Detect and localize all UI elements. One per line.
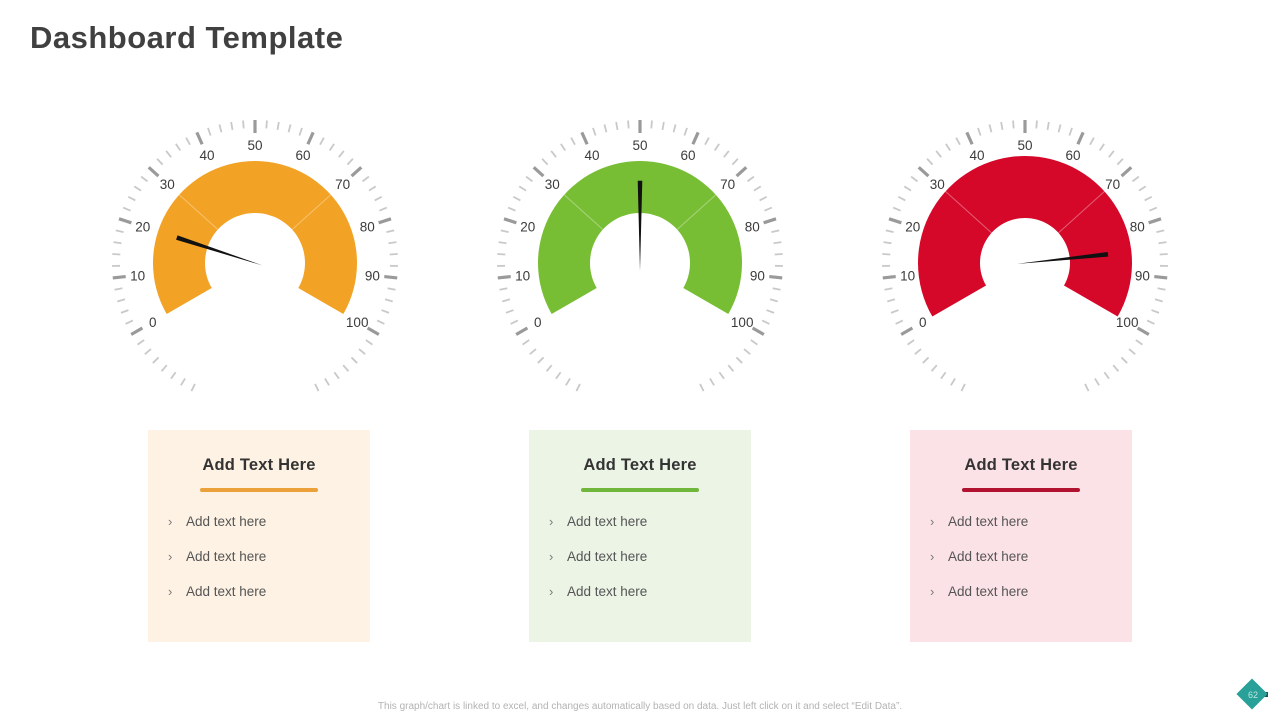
gauge-tick-label: 0 bbox=[149, 315, 157, 330]
gauge-green[interactable]: 0102030405060708090100 bbox=[490, 108, 790, 398]
gauge-tick-label: 40 bbox=[199, 148, 214, 163]
info-card[interactable]: Add Text Here›Add text here›Add text her… bbox=[529, 430, 751, 642]
chevron-right-icon: › bbox=[549, 514, 567, 529]
gauge-tick-label: 70 bbox=[1105, 177, 1120, 192]
gauge-tick-label: 20 bbox=[520, 220, 535, 235]
card-bullet-list: ›Add text here›Add text here›Add text he… bbox=[930, 514, 1112, 599]
list-item-label: Add text here bbox=[186, 549, 266, 564]
card-accent-underline bbox=[581, 488, 699, 492]
chevron-right-icon: › bbox=[549, 584, 567, 599]
gauge-tick-label: 50 bbox=[1017, 138, 1032, 153]
badge-number: 62 bbox=[1238, 680, 1268, 710]
gauge-tick-label: 60 bbox=[295, 148, 310, 163]
gauge-tick-label: 20 bbox=[905, 220, 920, 235]
list-item-label: Add text here bbox=[186, 514, 266, 529]
gauge-tick-label: 100 bbox=[1116, 315, 1139, 330]
gauge-orange[interactable]: 0102030405060708090100 bbox=[105, 108, 405, 398]
gauge-tick-label: 70 bbox=[335, 177, 350, 192]
gauge-tick-label: 60 bbox=[1065, 148, 1080, 163]
card-title: Add Text Here bbox=[549, 456, 731, 475]
list-item[interactable]: ›Add text here bbox=[168, 514, 350, 529]
gauge-tick-label: 10 bbox=[515, 268, 530, 283]
chevron-right-icon: › bbox=[168, 549, 186, 564]
chevron-right-icon: › bbox=[930, 514, 948, 529]
gauge-tick-label: 70 bbox=[720, 177, 735, 192]
chevron-right-icon: › bbox=[930, 549, 948, 564]
gauge-tick-label: 80 bbox=[1130, 220, 1145, 235]
list-item-label: Add text here bbox=[186, 584, 266, 599]
gauge-tick-label: 0 bbox=[919, 315, 927, 330]
chevron-right-icon: › bbox=[930, 584, 948, 599]
gauges-row: 0102030405060708090100010203040506070809… bbox=[0, 108, 1280, 398]
list-item[interactable]: ›Add text here bbox=[168, 549, 350, 564]
gauge-tick-label: 90 bbox=[1135, 268, 1150, 283]
gauge-tick-label: 90 bbox=[365, 268, 380, 283]
info-card[interactable]: Add Text Here›Add text here›Add text her… bbox=[148, 430, 370, 642]
footer-note: This graph/chart is linked to excel, and… bbox=[0, 701, 1280, 712]
gauge-arc bbox=[153, 161, 357, 314]
list-item-label: Add text here bbox=[948, 549, 1028, 564]
gauge-tick-label: 20 bbox=[135, 220, 150, 235]
list-item-label: Add text here bbox=[567, 584, 647, 599]
chevron-right-icon: › bbox=[549, 549, 567, 564]
gauge-tick-label: 10 bbox=[130, 268, 145, 283]
gauge-tick-label: 60 bbox=[680, 148, 695, 163]
gauge-tick-label: 30 bbox=[930, 177, 945, 192]
list-item[interactable]: ›Add text here bbox=[549, 514, 731, 529]
gauge-red[interactable]: 0102030405060708090100 bbox=[875, 108, 1175, 398]
cards-row: Add Text Here›Add text here›Add text her… bbox=[0, 430, 1280, 642]
list-item[interactable]: ›Add text here bbox=[549, 584, 731, 599]
card-title: Add Text Here bbox=[168, 456, 350, 475]
list-item-label: Add text here bbox=[948, 584, 1028, 599]
list-item[interactable]: ›Add text here bbox=[930, 549, 1112, 564]
gauge-tick-label: 0 bbox=[534, 315, 542, 330]
list-item[interactable]: ›Add text here bbox=[930, 514, 1112, 529]
chevron-right-icon: › bbox=[168, 514, 186, 529]
gauge-tick-label: 50 bbox=[247, 138, 262, 153]
card-accent-underline bbox=[200, 488, 318, 492]
list-item-label: Add text here bbox=[567, 514, 647, 529]
card-bullet-list: ›Add text here›Add text here›Add text he… bbox=[168, 514, 350, 599]
page-title: Dashboard Template bbox=[30, 20, 343, 56]
list-item-label: Add text here bbox=[948, 514, 1028, 529]
gauge-tick-label: 100 bbox=[731, 315, 754, 330]
gauge-tick-label: 80 bbox=[745, 220, 760, 235]
gauge-tick-label: 100 bbox=[346, 315, 369, 330]
gauge-tick-label: 30 bbox=[545, 177, 560, 192]
gauge-tick-label: 80 bbox=[360, 220, 375, 235]
list-item[interactable]: ›Add text here bbox=[168, 584, 350, 599]
list-item-label: Add text here bbox=[567, 549, 647, 564]
gauge-tick-label: 40 bbox=[969, 148, 984, 163]
gauge-tick-label: 30 bbox=[160, 177, 175, 192]
chevron-right-icon: › bbox=[168, 584, 186, 599]
card-title: Add Text Here bbox=[930, 456, 1112, 475]
card-accent-underline bbox=[962, 488, 1080, 492]
gauge-needle bbox=[638, 181, 643, 271]
page-number-badge: 62 bbox=[1238, 680, 1268, 710]
gauge-tick-label: 40 bbox=[584, 148, 599, 163]
gauge-tick-label: 50 bbox=[632, 138, 647, 153]
gauge-tick-label: 90 bbox=[750, 268, 765, 283]
gauge-tick-label: 10 bbox=[900, 268, 915, 283]
list-item[interactable]: ›Add text here bbox=[930, 584, 1112, 599]
gauge-arc bbox=[918, 156, 1132, 317]
list-item[interactable]: ›Add text here bbox=[549, 549, 731, 564]
info-card[interactable]: Add Text Here›Add text here›Add text her… bbox=[910, 430, 1132, 642]
card-bullet-list: ›Add text here›Add text here›Add text he… bbox=[549, 514, 731, 599]
